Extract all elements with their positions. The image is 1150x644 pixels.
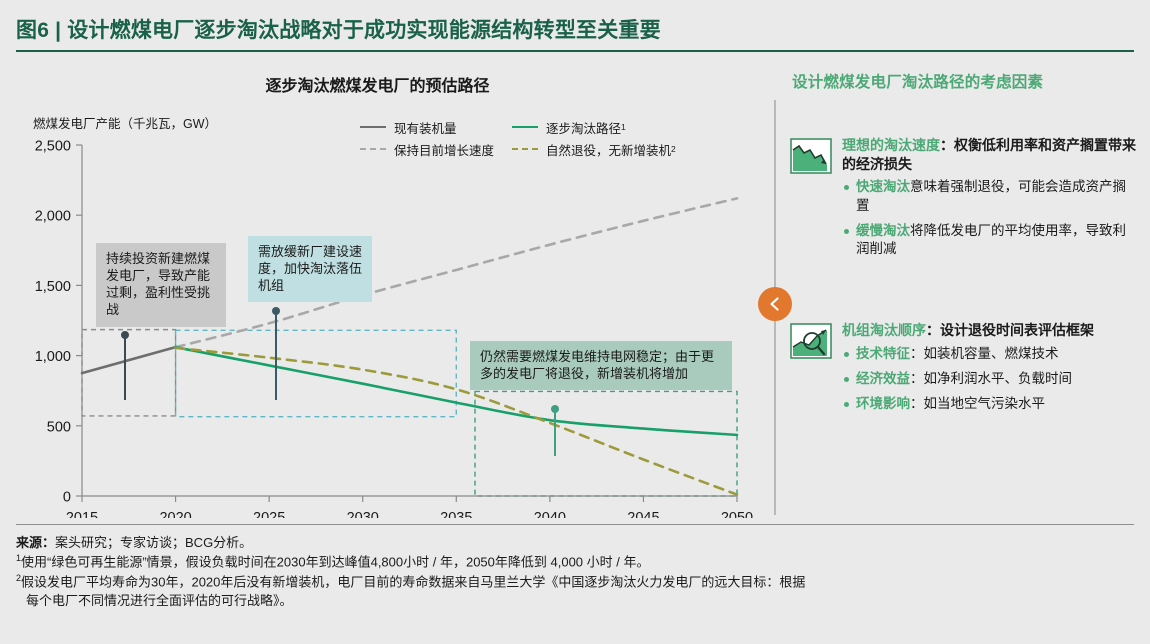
box-endgame (475, 391, 737, 496)
leader-dot (121, 331, 129, 339)
footnote-2-text: 假设发电厂平均寿命为30年，2020年后没有新增装机，电厂目前的寿命数据来自马里… (21, 575, 805, 590)
considerations-panel: 设计燃煤发电厂淘汰路径的考虑因素 理想的淘汰速度：权衡低利用率和资产搁置带来的经… (790, 70, 1140, 520)
x-axis-tick-label: 2015 (66, 510, 98, 518)
x-axis-tick-label: 2030 (347, 510, 379, 518)
list-item: 经济效益：如净利润水平、负载时间 (842, 370, 1138, 388)
footnote-2: 2假设发电厂平均寿命为30年，2020年后没有新增装机，电厂目前的寿命数据来自马… (16, 572, 1141, 592)
consideration-heading: 理想的淘汰速度：权衡低利用率和资产搁置带来的经济损失 (842, 136, 1138, 173)
list-item: 环境影响：如当地空气污染水平 (842, 395, 1138, 413)
leader-dot (551, 405, 559, 413)
chart-panel: 逐步淘汰燃煤发电厂的预估路径 燃煤发电厂产能（千兆瓦，GW） 现有装机量 逐步淘… (0, 58, 775, 518)
callout-investment: 持续投资新建燃煤发电厂，导致产能过剩，盈利性受挑战 (96, 243, 226, 327)
page-title: 图6 | 设计燃煤电厂逐步淘汰战略对于成功实现能源结构转型至关重要 (16, 14, 1136, 44)
callout-grid-stability: 仍然需要燃煤发电维持电网稳定；由于更多的发电厂将退役，新增装机将增加 (470, 341, 732, 390)
callout-slowdown: 需放缓新厂建设速度，加快淘汰落伍机组 (248, 236, 372, 302)
bullet-accent: 快速淘汰 (856, 179, 910, 194)
bullet-accent: 经济效益 (856, 371, 910, 386)
footnote-divider (16, 524, 1134, 525)
leader-dot (272, 307, 280, 315)
consideration-heading: 机组淘汰顺序：设计退役时间表评估框架 (842, 321, 1138, 340)
y-axis-tick-label: 2,500 (35, 139, 71, 155)
bullet-text: ：如装机容量、燃煤技术 (910, 346, 1059, 361)
consideration-block-phaseout-speed: 理想的淘汰速度：权衡低利用率和资产搁置带来的经济损失 快速淘汰意味着强制退役，可… (790, 136, 1138, 266)
y-axis-tick-label: 500 (47, 419, 71, 435)
list-item: 技术特征：如装机容量、燃煤技术 (842, 345, 1138, 363)
box-existing (82, 330, 176, 416)
bullet-accent: 环境影响 (856, 396, 910, 411)
considerations-title: 设计燃煤发电厂淘汰路径的考虑因素 (792, 70, 1140, 92)
bullet-accent: 缓慢淘汰 (856, 223, 910, 238)
footnote-source-label: 来源： (16, 535, 55, 550)
header-divider (16, 50, 1134, 52)
chart-magnifier-icon (790, 323, 832, 359)
consideration-heading-rest: ：设计退役时间表评估框架 (926, 322, 1094, 338)
chart-series-line (82, 347, 176, 373)
leader-line-slowdown (275, 311, 277, 400)
declining-chart-icon (790, 138, 832, 174)
x-axis-tick-label: 2045 (627, 510, 659, 518)
leader-line-grid-stability (554, 409, 556, 456)
footnote-source-text: 案头研究；专家访谈；BCG分析。 (55, 535, 252, 550)
y-axis-tick-label: 0 (63, 490, 71, 506)
x-axis-tick-label: 2050 (721, 510, 753, 518)
consideration-heading-accent: 理想的淘汰速度 (842, 137, 940, 153)
footnote-2-continued: 每个电厂不同情况进行全面评估的可行战略》。 (26, 592, 1141, 610)
x-axis-tick-label: 2040 (534, 510, 566, 518)
consideration-heading-accent: 机组淘汰顺序 (842, 322, 926, 338)
y-axis-tick-label: 1,000 (35, 349, 71, 365)
list-item: 缓慢淘汰将降低发电厂的平均使用率，导致利润削减 (842, 222, 1138, 259)
x-axis-tick-label: 2020 (159, 510, 191, 518)
x-axis-tick-label: 2025 (253, 510, 285, 518)
bullet-accent: 技术特征 (856, 346, 910, 361)
bullet-text: ：如当地空气污染水平 (910, 396, 1045, 411)
footnote-source: 来源：案头研究；专家访谈；BCG分析。 (16, 534, 1141, 552)
x-axis-tick-label: 2035 (440, 510, 472, 518)
figure-header: 图6 | 设计燃煤电厂逐步淘汰战略对于成功实现能源结构转型至关重要 (16, 14, 1136, 44)
consideration-block-retirement-order: 机组淘汰顺序：设计退役时间表评估框架 技术特征：如装机容量、燃煤技术 经济效益：… (790, 321, 1138, 421)
chevron-left-icon[interactable] (758, 287, 792, 321)
footnotes: 来源：案头研究；专家访谈；BCG分析。 1使用“绿色可再生能源”情景，假设负载时… (16, 534, 1141, 610)
footnote-1: 1使用“绿色可再生能源”情景，假设负载时间在2030年到达峰值4,800小时 /… (16, 552, 1141, 572)
consideration-bullets: 技术特征：如装机容量、燃煤技术 经济效益：如净利润水平、负载时间 环境影响：如当… (842, 345, 1138, 414)
bullet-text: ：如净利润水平、负载时间 (910, 371, 1072, 386)
y-axis-tick-label: 1,500 (35, 279, 71, 295)
y-axis-tick-label: 2,000 (35, 209, 71, 225)
list-item: 快速淘汰意味着强制退役，可能会造成资产搁置 (842, 178, 1138, 215)
footnote-1-text: 使用“绿色可再生能源”情景，假设负载时间在2030年到达峰值4,800小时 / … (21, 555, 649, 570)
leader-line-investment (124, 335, 126, 400)
consideration-bullets: 快速淘汰意味着强制退役，可能会造成资产搁置 缓慢淘汰将降低发电厂的平均使用率，导… (842, 178, 1138, 258)
